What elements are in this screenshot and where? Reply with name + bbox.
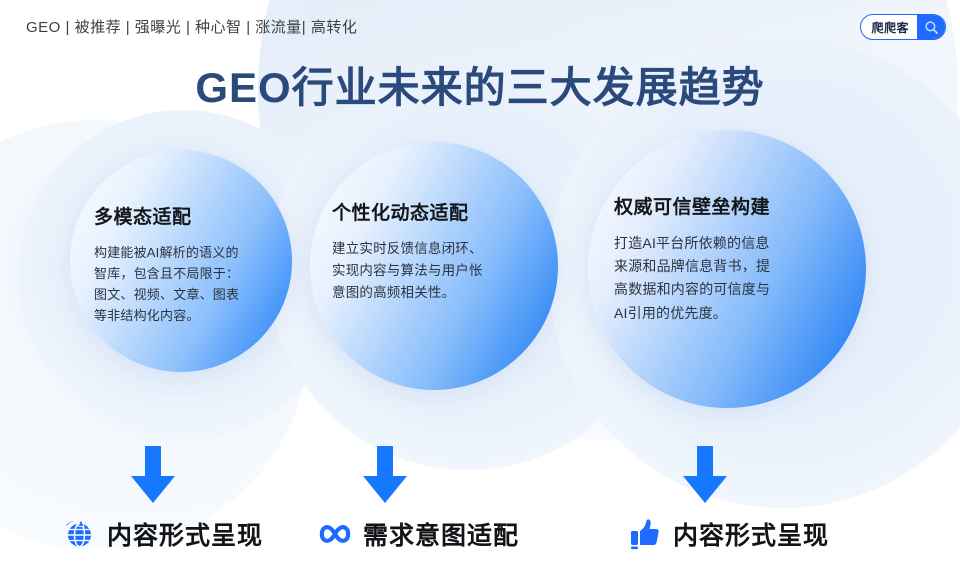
- infinity-icon: [318, 517, 352, 551]
- globe-share-icon: [62, 517, 96, 551]
- outcome-item-2[interactable]: 需求意图适配: [318, 516, 519, 552]
- outcome-item-1[interactable]: 内容形式呈现: [62, 516, 263, 552]
- outcome-label-2: 需求意图适配: [363, 516, 519, 552]
- outcome-label-1: 内容形式呈现: [107, 516, 263, 552]
- outcome-item-3[interactable]: 内容形式呈现: [628, 516, 829, 552]
- outcome-row: 内容形式呈现 需求意图适配 内容形式呈现: [0, 0, 960, 585]
- infographic-slide: GEO | 被推荐 | 强曝光 | 种心智 | 涨流量| 高转化 爬爬客 GEO…: [0, 0, 960, 585]
- thumbs-up-icon: [628, 517, 662, 551]
- outcome-label-3: 内容形式呈现: [673, 516, 829, 552]
